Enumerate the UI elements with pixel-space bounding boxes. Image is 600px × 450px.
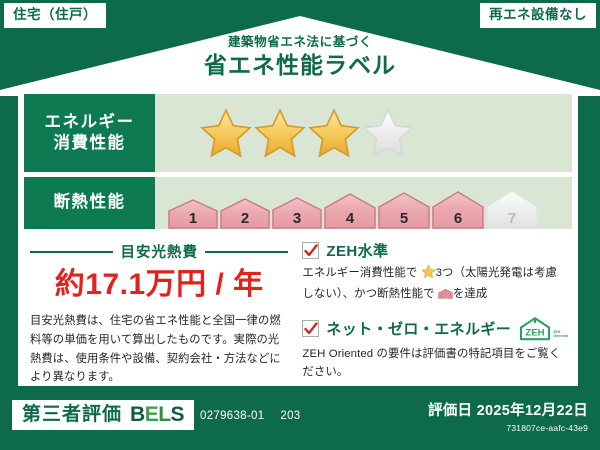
inline-star-icon <box>421 264 436 285</box>
heading-rule-right <box>205 251 288 253</box>
insulation-chip-scale: 1 2 3 4 <box>155 177 572 229</box>
title-main: 省エネ性能ラベル <box>0 53 600 78</box>
energy-cost-block: 目安光熱費 約17.1万円 / 年 目安光熱費は、住宅の省エネ性能と全国一律の燃… <box>18 233 296 386</box>
insulation-chip-2-value: 2 <box>220 211 270 226</box>
checkmark-icon <box>304 322 318 336</box>
certification-checks: ZEH水準 エネルギー消費性能で 3つ（太陽光発電は考慮しない）、かつ断熱性能で <box>296 233 578 386</box>
insulation-performance-row: 断熱性能 1 2 <box>24 177 572 229</box>
star-icon-3 <box>307 107 361 159</box>
energy-star-rating <box>155 94 572 172</box>
insulation-chip-4-value: 4 <box>324 211 376 226</box>
insulation-chip-7-inactive: 7 <box>486 190 538 229</box>
certificate-number: 0279638-01 <box>200 410 264 422</box>
inline-insulation-chip-icon: 5 <box>438 287 453 307</box>
title-subtitle: 建築物省エネ法に基づく <box>0 36 600 50</box>
label-card: エネルギー 消費性能 <box>18 88 578 386</box>
insulation-chip-3-value: 3 <box>272 211 322 226</box>
star-icon-1 <box>199 107 253 159</box>
zeh-logo: ZEH ZEH Oriented <box>518 316 568 342</box>
bels-logo: BELS <box>130 404 184 425</box>
label-canvas: 住宅（住戸） 再エネ設備なし 建築物省エネ法に基づく 省エネ性能ラベル エネルギ… <box>0 0 600 450</box>
check-title-net-zero-energy: ネット・ゼロ・エネルギー <box>326 318 511 339</box>
energy-cost-note: 目安光熱費は、住宅の省エネ性能と全国一律の燃料等の単価を用いて算出したものです。… <box>30 312 288 387</box>
check-item-net-zero-energy: ネット・ゼロ・エネルギー ZEH ZEH Oriented <box>302 316 568 382</box>
inline-chip-value: 5 <box>438 298 453 307</box>
energy-performance-label: エネルギー 消費性能 <box>24 94 155 172</box>
insulation-chip-5-value: 5 <box>378 211 430 226</box>
svg-text:ZEH: ZEH <box>526 327 545 338</box>
bels-letter-l: L <box>158 403 170 426</box>
insulation-performance-label: 断熱性能 <box>24 177 155 229</box>
checkbox-checked <box>302 320 319 337</box>
zeh-house-icon: ZEH <box>518 316 552 342</box>
third-party-evaluation-label: 第三者評価 <box>22 405 122 424</box>
insulation-chip-6: 6 <box>432 191 484 229</box>
evaluation-date: 評価日 2025年12月22日 <box>428 399 588 420</box>
star-icon-2 <box>253 107 307 159</box>
check-body-net-zero-energy: ZEH Oriented の要件は評価書の特記項目をご覧ください。 <box>302 345 568 382</box>
zeh-sub-line2: Oriented <box>553 334 568 338</box>
page-title: 建築物省エネ法に基づく 省エネ性能ラベル <box>0 36 600 78</box>
energy-cost-value: 約17.1万円 / 年 <box>30 268 288 301</box>
heading-rule-left <box>30 251 113 253</box>
insulation-chip-3: 3 <box>272 197 322 229</box>
footer: 第三者評価 BELS 0279638-01 203 評価日 2025年12月22… <box>0 388 600 450</box>
energy-label-line1: エネルギー <box>45 112 135 133</box>
zeh-sub-line1: ZEH <box>553 330 560 334</box>
check-header: ZEH水準 <box>302 240 568 261</box>
evaluation-info: 評価日 2025年12月22日 731807ce-aafc-43e9 <box>428 399 588 433</box>
certificate-ids: 0279638-01 203 <box>200 410 301 422</box>
check-title-zeh-level: ZEH水準 <box>326 240 388 261</box>
bels-letter-e: E <box>145 403 159 426</box>
bels-letter-b: B <box>130 403 145 426</box>
insulation-chip-2: 2 <box>220 198 270 229</box>
check-body-zeh-level: エネルギー消費性能で 3つ（太陽光発電は考慮しない）、かつ断熱性能で 5 を達成 <box>302 264 568 308</box>
check-header: ネット・ゼロ・エネルギー ZEH ZEH Oriented <box>302 316 568 342</box>
evaluation-hash: 731807ce-aafc-43e9 <box>428 423 588 433</box>
zeh-logo-subtext: ZEH Oriented <box>553 330 568 342</box>
energy-cost-heading-text: 目安光熱費 <box>120 241 198 262</box>
unit-number: 203 <box>280 410 300 422</box>
checkbox-checked <box>302 242 319 259</box>
insulation-chip-1-value: 1 <box>168 211 218 226</box>
insulation-chip-4: 4 <box>324 193 376 229</box>
check-item-zeh-level: ZEH水準 エネルギー消費性能で 3つ（太陽光発電は考慮しない）、かつ断熱性能で <box>302 240 568 308</box>
star-icon-4-empty <box>361 107 415 159</box>
zeh-body-part1: エネルギー消費性能で <box>302 267 417 279</box>
energy-label-line2: 消費性能 <box>54 133 126 154</box>
insulation-chip-5: 5 <box>378 192 430 229</box>
energy-performance-row: エネルギー 消費性能 <box>24 94 572 172</box>
insulation-chip-7-value: 7 <box>486 211 538 226</box>
lower-section: 目安光熱費 約17.1万円 / 年 目安光熱費は、住宅の省エネ性能と全国一律の燃… <box>18 233 578 386</box>
bels-plate: 第三者評価 BELS <box>12 400 194 430</box>
insulation-chip-1: 1 <box>168 199 218 229</box>
zeh-body-part3: を達成 <box>453 288 487 300</box>
checkmark-icon <box>304 244 318 258</box>
insulation-chip-6-value: 6 <box>432 211 484 226</box>
energy-cost-heading: 目安光熱費 <box>30 241 288 262</box>
bels-letter-s: S <box>171 403 185 426</box>
